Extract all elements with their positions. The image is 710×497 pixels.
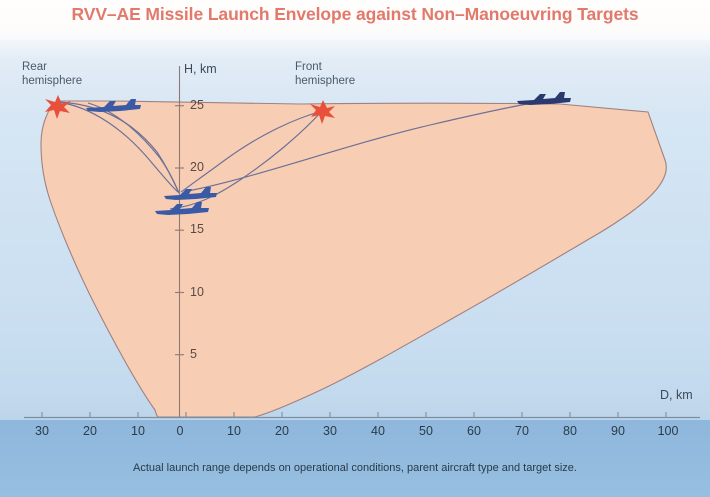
- y-tick-label-5: 5: [190, 347, 197, 361]
- x-tick-label-20-left: 20: [70, 424, 110, 438]
- x-tick-label-70: 70: [502, 424, 542, 438]
- x-axis: [24, 412, 700, 418]
- chart-canvas: RVV–AE Missile Launch Envelope against N…: [0, 0, 710, 497]
- y-axis-label: H, km: [184, 62, 217, 76]
- x-tick-label-60: 60: [454, 424, 494, 438]
- y-tick-label-10: 10: [190, 285, 204, 299]
- rear-hemisphere-line1: Rear: [22, 60, 82, 74]
- front-hemisphere-line2: hemisphere: [295, 74, 355, 88]
- front-hemisphere-annotation: Front hemisphere: [295, 60, 355, 88]
- x-tick-label-100: 100: [648, 424, 688, 438]
- x-tick-label-40: 40: [358, 424, 398, 438]
- x-tick-label-50: 50: [406, 424, 446, 438]
- x-tick-label-80: 80: [550, 424, 590, 438]
- x-tick-label-30: 30: [310, 424, 350, 438]
- footer-caption: Actual launch range depends on operation…: [0, 462, 710, 474]
- launch-envelope-area: [41, 101, 666, 417]
- rear-hemisphere-line2: hemisphere: [22, 74, 82, 88]
- x-axis-label: D, km: [660, 388, 693, 402]
- x-tick-label-10-left: 10: [118, 424, 158, 438]
- front-hemisphere-line1: Front: [295, 60, 355, 74]
- x-tick-label-30-left: 30: [22, 424, 62, 438]
- aircraft-icon-target-front: [517, 92, 571, 105]
- x-tick-label-10: 10: [214, 424, 254, 438]
- x-tick-label-20: 20: [262, 424, 302, 438]
- x-tick-label-0: 0: [160, 424, 200, 438]
- y-tick-label-20: 20: [190, 160, 204, 174]
- x-tick-label-90: 90: [598, 424, 638, 438]
- rear-hemisphere-annotation: Rear hemisphere: [22, 60, 82, 88]
- y-tick-label-15: 15: [190, 222, 204, 236]
- y-tick-label-25: 25: [190, 98, 204, 112]
